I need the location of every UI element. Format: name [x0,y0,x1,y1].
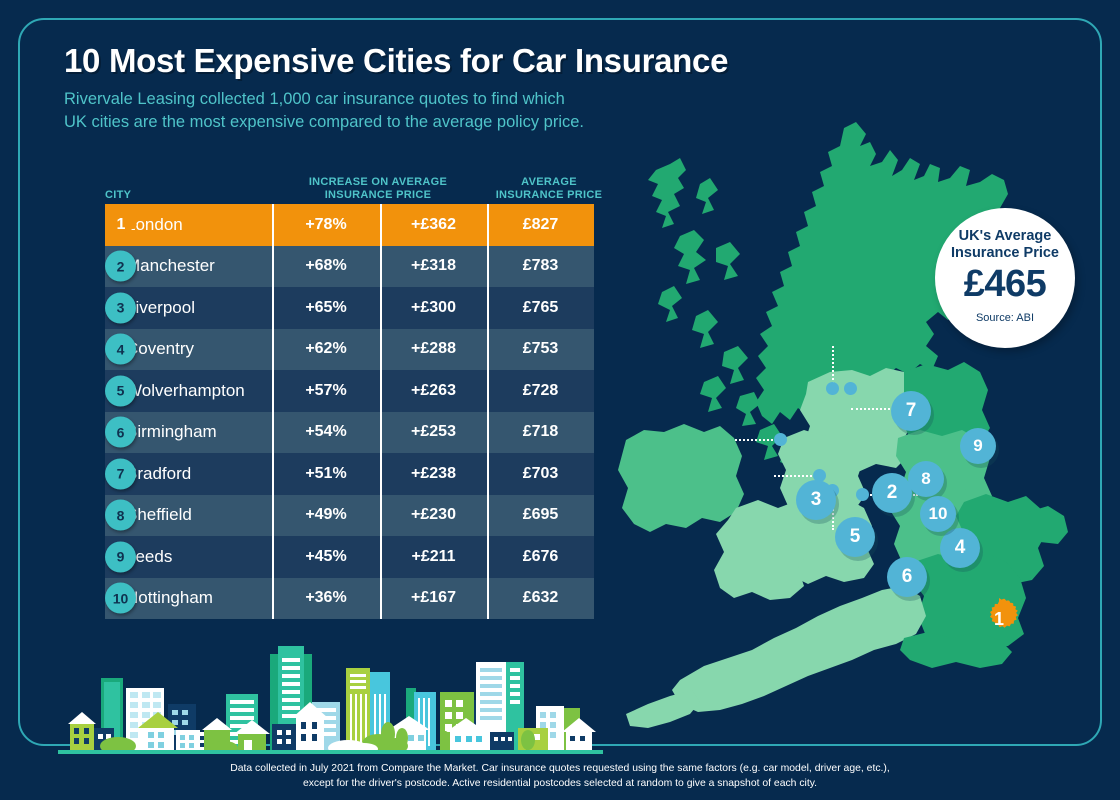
map-marker-label: 7 [906,400,917,422]
cell-increase-percent: +36% [272,578,380,620]
cell-average-price: £703 [487,453,594,495]
table-row[interactable]: 7Bradford+51%+£238£703 [105,453,594,495]
map-region-south-west [672,586,926,712]
cell-increase-amount: +£300 [380,287,487,329]
cell-increase-amount: +£288 [380,329,487,371]
cell-increase-percent: +54% [272,412,380,454]
uk-average-source: Source: ABI [976,312,1034,324]
cell-average-price: £676 [487,536,594,578]
map-marker-label: 3 [811,489,822,511]
skyline-svg [58,636,603,754]
map-region-cornwall [626,690,700,728]
rank-badge: 6 [105,417,136,448]
rank-badge: 9 [105,541,136,572]
cell-increase-percent: +78% [272,204,380,246]
table-row[interactable]: 10Nottingham+36%+£167£632 [105,578,594,620]
map-marker-wolverhampton[interactable]: 5 [835,517,875,557]
table-row[interactable]: 6Birmingham+54%+£253£718 [105,412,594,454]
map-marker-label: 2 [887,482,898,504]
map-marker-manchester[interactable]: 2 [872,473,912,513]
column-header-city: CITY [105,189,225,202]
page-subtitle: Rivervale Leasing collected 1,000 car in… [64,88,584,135]
table-row[interactable]: 5Wolverhampton+57%+£263£728 [105,370,594,412]
column-header-increase: INCREASE ON AVERAGE INSURANCE PRICE [272,176,484,202]
table-body: 1London+78%+£362£8272Manchester+68%+£318… [60,204,594,619]
cell-increase-percent: +62% [272,329,380,371]
cell-increase-percent: +68% [272,246,380,288]
map-marker-label: 9 [973,436,982,456]
cell-increase-amount: +£211 [380,536,487,578]
map-marker-leeds[interactable]: 9 [960,428,996,464]
footer-note: Data collected in July 2021 from Compare… [0,762,1120,791]
cell-increase-amount: +£230 [380,495,487,537]
connector-wolverhampton [774,475,816,477]
rank-badge: 3 [105,292,136,323]
cell-average-price: £728 [487,370,594,412]
table-row[interactable]: 4Coventry+62%+£288£753 [105,329,594,371]
map-marker-label: 8 [921,469,930,489]
cell-average-price: £765 [487,287,594,329]
table-row[interactable]: 1London+78%+£362£827 [105,204,594,246]
page-title: 10 Most Expensive Cities for Car Insuran… [64,42,728,80]
uk-average-badge: UK's Average Insurance Price £465 Source… [935,208,1075,348]
column-header-average: AVERAGE INSURANCE PRICE [484,176,614,202]
rank-badge: 1 [102,206,140,244]
connector-liverpool [735,439,777,441]
cell-increase-amount: +£263 [380,370,487,412]
map-marker-london[interactable]: 1 [978,598,1020,640]
table-row[interactable]: 2Manchester+68%+£318£783 [105,246,594,288]
table-row[interactable]: 9Leeds+45%+£211£676 [105,536,594,578]
uk-average-value: £465 [964,265,1047,303]
map-region-northern-ireland [618,424,744,532]
locator-dot-liverpool [774,433,787,446]
map-marker-liverpool[interactable]: 3 [796,480,836,520]
uk-average-label: UK's Average Insurance Price [951,228,1059,262]
cell-average-price: £783 [487,246,594,288]
cell-increase-amount: +£167 [380,578,487,620]
cell-average-price: £695 [487,495,594,537]
table-row[interactable]: 8Sheffield+49%+£230£695 [105,495,594,537]
cell-increase-percent: +49% [272,495,380,537]
rank-badge: 8 [105,500,136,531]
map-marker-sheffield[interactable]: 8 [908,461,944,497]
rank-badge: 4 [105,334,136,365]
cell-average-price: £718 [487,412,594,454]
cell-increase-amount: +£238 [380,453,487,495]
cell-increase-percent: +65% [272,287,380,329]
locator-dot-bradford [826,382,839,395]
map-marker-birmingham[interactable]: 6 [887,557,927,597]
city-skyline-illustration [58,636,603,754]
map-marker-nottingham[interactable]: 10 [920,496,956,532]
cell-increase-amount: +£318 [380,246,487,288]
rank-badge: 7 [105,458,136,489]
cell-increase-amount: +£362 [380,204,487,246]
cell-average-price: £632 [487,578,594,620]
rank-badge: 2 [105,251,136,282]
rank-badge: 10 [105,583,136,614]
locator-dot-leeds [844,382,857,395]
infographic-root: 12345678910 UK's Average Insurance Price… [0,0,1120,800]
cell-average-price: £753 [487,329,594,371]
map-marker-label: 5 [850,526,861,548]
table-row[interactable]: 3Liverpool+65%+£300£765 [105,287,594,329]
map-marker-label: 1 [994,609,1004,630]
table-header-row: CITY INCREASE ON AVERAGE INSURANCE PRICE… [60,162,594,204]
cell-increase-percent: +57% [272,370,380,412]
map-marker-label: 4 [955,537,966,559]
ranking-table: CITY INCREASE ON AVERAGE INSURANCE PRICE… [60,162,594,619]
cell-increase-percent: +45% [272,536,380,578]
locator-dot-coventry [856,488,869,501]
cell-average-price: £827 [487,204,594,246]
rank-badge: 5 [105,375,136,406]
rank-badge-label: 1 [117,216,126,234]
cell-increase-amount: +£253 [380,412,487,454]
map-marker-label: 6 [902,566,913,588]
map-marker-coventry[interactable]: 4 [940,528,980,568]
map-marker-bradford[interactable]: 7 [891,391,931,431]
map-marker-label: 10 [929,504,948,524]
cell-increase-percent: +51% [272,453,380,495]
